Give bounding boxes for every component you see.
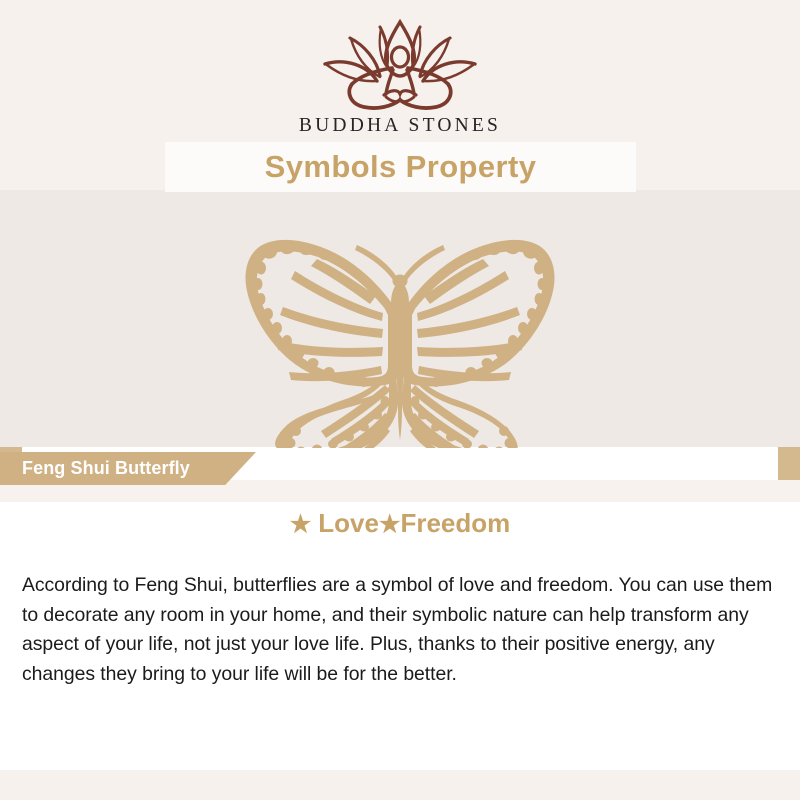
description-paragraph: According to Feng Shui, butterflies are …: [22, 571, 784, 689]
title-banner: Symbols Property: [165, 142, 636, 192]
tagline: ★Love★Freedom: [0, 508, 800, 539]
hero-label-banner: Feng Shui Butterfly: [0, 452, 256, 485]
brand-name: BUDDHA STONES: [0, 115, 800, 137]
hero-image-wrap: [0, 233, 800, 453]
star-icon-left: ★: [290, 511, 312, 538]
star-icon-middle: ★: [379, 511, 401, 538]
page-content: BUDDHA STONES Symbols Property: [0, 0, 800, 800]
lotus-meditation-figure-icon: [314, 18, 486, 113]
tagline-word-love: Love: [318, 508, 379, 538]
brand-logo-block: BUDDHA STONES: [0, 18, 800, 137]
tagline-word-freedom: Freedom: [400, 508, 510, 538]
butterfly-icon: [225, 233, 575, 448]
page-title: Symbols Property: [265, 149, 537, 185]
hero-label-text: Feng Shui Butterfly: [22, 452, 190, 485]
